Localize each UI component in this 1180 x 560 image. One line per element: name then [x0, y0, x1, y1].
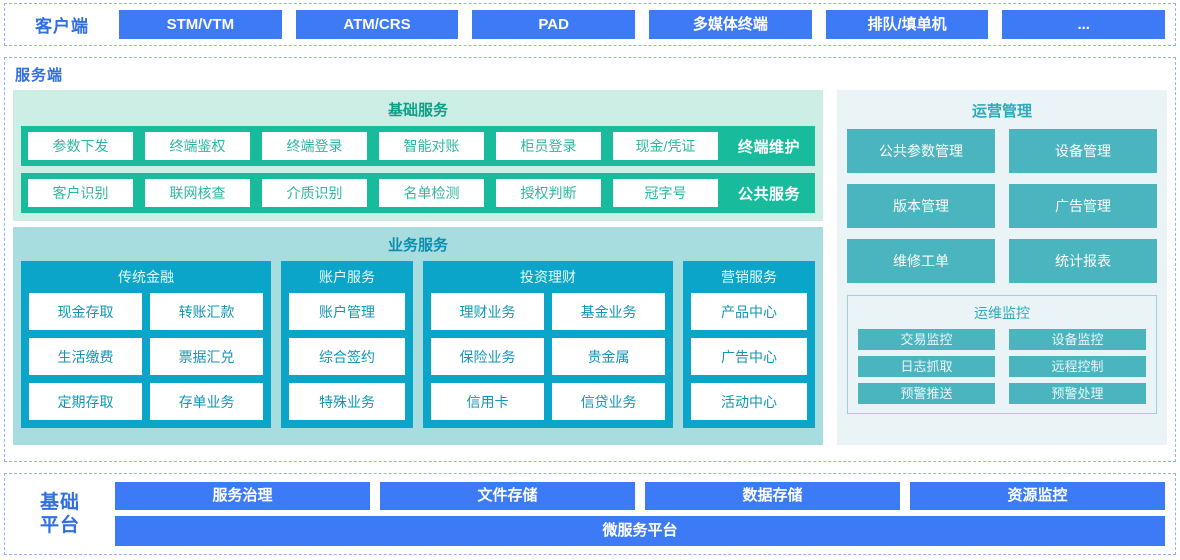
basic-services-row-terminal-maintenance: 参数下发 终端鉴权 终端登录 智能对账 柜员登录 现金/凭证 终端维护 [21, 126, 815, 166]
platform-stack: 服务治理 文件存储 数据存储 资源监控 微服务平台 [115, 482, 1175, 546]
ops-cell-advertising-management[interactable]: 广告管理 [1009, 184, 1157, 228]
basic-cell-media-recognition[interactable]: 介质识别 [262, 179, 367, 207]
business-group-marketing: 营销服务 产品中心 广告中心 活动中心 [683, 261, 815, 428]
ops-cell-repair-work-order[interactable]: 维修工单 [847, 239, 995, 283]
business-group-title-marketing: 营销服务 [691, 266, 807, 293]
ops-cell-device-management[interactable]: 设备管理 [1009, 129, 1157, 173]
business-group-grid-account-service: 账户管理 综合签约 特殊业务 [289, 293, 405, 420]
platform-capability-row: 服务治理 文件存储 数据存储 资源监控 [115, 482, 1165, 510]
mon-cell-log-capture[interactable]: 日志抓取 [858, 356, 995, 377]
biz-cell-special-business[interactable]: 特殊业务 [289, 383, 405, 420]
business-services-groups: 传统金融 现金存取 生活缴费 定期存取 转账汇款 票据汇兑 [21, 261, 815, 428]
basic-cell-teller-login[interactable]: 柜员登录 [496, 132, 601, 160]
mon-cell-device-monitoring[interactable]: 设备监控 [1009, 329, 1146, 350]
business-col-investment-2: 基金业务 贵金属 信贷业务 [552, 293, 665, 420]
biz-cell-advertising-center[interactable]: 广告中心 [691, 338, 807, 375]
biz-cell-transfer-remittance[interactable]: 转账汇款 [150, 293, 263, 330]
ops-cell-version-management[interactable]: 版本管理 [847, 184, 995, 228]
basic-row-tag-terminal-maintenance: 终端维护 [730, 136, 808, 157]
platform-title-line1: 基础 [5, 491, 115, 514]
business-group-title-traditional-finance: 传统金融 [29, 266, 263, 293]
basic-cell-param-dispatch[interactable]: 参数下发 [28, 132, 133, 160]
operations-management-grid: 公共参数管理 设备管理 版本管理 广告管理 维修工单 统计报表 [847, 129, 1157, 283]
biz-cell-living-payment[interactable]: 生活缴费 [29, 338, 142, 375]
basic-services-heading: 基础服务 [21, 96, 815, 126]
basic-cell-cash-voucher[interactable]: 现金/凭证 [613, 132, 718, 160]
basic-cell-smart-reconciliation[interactable]: 智能对账 [379, 132, 484, 160]
mon-cell-alert-handling[interactable]: 预警处理 [1009, 383, 1146, 404]
server-layer-section: 服务端 基础服务 参数下发 终端鉴权 终端登录 智能对账 柜员登录 现金/凭证 … [4, 57, 1176, 462]
biz-cell-wealth-management[interactable]: 理财业务 [431, 293, 544, 330]
basic-row-tag-public-service: 公共服务 [730, 183, 808, 204]
business-services-block: 业务服务 传统金融 现金存取 生活缴费 定期存取 [13, 227, 823, 445]
platform-microservice-bar[interactable]: 微服务平台 [115, 516, 1165, 546]
basic-cell-serial-number[interactable]: 冠字号 [613, 179, 718, 207]
operations-monitoring-box: 运维监控 交易监控 设备监控 日志抓取 远程控制 预警推送 预警处理 [847, 295, 1157, 414]
platform-layer-title: 基础 平台 [5, 491, 115, 537]
business-col-account-1: 账户管理 综合签约 特殊业务 [289, 293, 405, 420]
operations-management-heading: 运营管理 [847, 96, 1157, 129]
basic-cell-terminal-login[interactable]: 终端登录 [262, 132, 367, 160]
business-group-investment: 投资理财 理财业务 保险业务 信用卡 基金业务 贵金属 [423, 261, 673, 428]
biz-cell-insurance-business[interactable]: 保险业务 [431, 338, 544, 375]
server-layer-body: 基础服务 参数下发 终端鉴权 终端登录 智能对账 柜员登录 现金/凭证 终端维护… [13, 90, 1167, 445]
client-layer-title: 客户端 [5, 12, 119, 37]
server-layer-title: 服务端 [15, 64, 1167, 85]
client-terminal-queue-form[interactable]: 排队/填单机 [826, 10, 989, 39]
client-terminal-list: STM/VTM ATM/CRS PAD 多媒体终端 排队/填单机 ... [119, 10, 1175, 39]
biz-cell-credit-business[interactable]: 信贷业务 [552, 383, 665, 420]
basic-cell-customer-identification[interactable]: 客户识别 [28, 179, 133, 207]
operations-monitoring-heading: 运维监控 [858, 301, 1146, 329]
biz-cell-activity-center[interactable]: 活动中心 [691, 383, 807, 420]
ops-cell-public-parameter-management[interactable]: 公共参数管理 [847, 129, 995, 173]
basic-cell-online-verification[interactable]: 联网核查 [145, 179, 250, 207]
biz-cell-certificate-deposit[interactable]: 存单业务 [150, 383, 263, 420]
platform-chip-resource-monitoring[interactable]: 资源监控 [910, 482, 1165, 510]
biz-cell-bill-exchange[interactable]: 票据汇兑 [150, 338, 263, 375]
business-services-heading: 业务服务 [21, 231, 815, 261]
biz-cell-comprehensive-signing[interactable]: 综合签约 [289, 338, 405, 375]
platform-chip-service-governance[interactable]: 服务治理 [115, 482, 370, 510]
mon-cell-alert-push[interactable]: 预警推送 [858, 383, 995, 404]
operations-monitoring-grid: 交易监控 设备监控 日志抓取 远程控制 预警推送 预警处理 [858, 329, 1146, 404]
basic-cell-terminal-auth[interactable]: 终端鉴权 [145, 132, 250, 160]
basic-cell-list-check[interactable]: 名单检测 [379, 179, 484, 207]
platform-chip-file-storage[interactable]: 文件存储 [380, 482, 635, 510]
platform-chip-data-storage[interactable]: 数据存储 [645, 482, 900, 510]
mon-cell-transaction-monitoring[interactable]: 交易监控 [858, 329, 995, 350]
basic-cell-authorization-judgment[interactable]: 授权判断 [496, 179, 601, 207]
ops-cell-statistical-report[interactable]: 统计报表 [1009, 239, 1157, 283]
business-group-account-service: 账户服务 账户管理 综合签约 特殊业务 [281, 261, 413, 428]
platform-title-line2: 平台 [5, 514, 115, 537]
client-terminal-stm-vtm[interactable]: STM/VTM [119, 10, 282, 39]
business-group-grid-marketing: 产品中心 广告中心 活动中心 [691, 293, 807, 420]
biz-cell-cash-deposit-withdraw[interactable]: 现金存取 [29, 293, 142, 330]
client-layer-section: 客户端 STM/VTM ATM/CRS PAD 多媒体终端 排队/填单机 ... [4, 3, 1176, 46]
business-col-investment-1: 理财业务 保险业务 信用卡 [431, 293, 544, 420]
business-group-grid-investment: 理财业务 保险业务 信用卡 基金业务 贵金属 信贷业务 [431, 293, 665, 420]
biz-cell-precious-metals[interactable]: 贵金属 [552, 338, 665, 375]
business-col-marketing-1: 产品中心 广告中心 活动中心 [691, 293, 807, 420]
business-group-traditional-finance: 传统金融 现金存取 生活缴费 定期存取 转账汇款 票据汇兑 [21, 261, 271, 428]
business-group-grid-traditional-finance: 现金存取 生活缴费 定期存取 转账汇款 票据汇兑 存单业务 [29, 293, 263, 420]
architecture-diagram: 客户端 STM/VTM ATM/CRS PAD 多媒体终端 排队/填单机 ...… [0, 0, 1180, 560]
basic-services-row-public-service: 客户识别 联网核查 介质识别 名单检测 授权判断 冠字号 公共服务 [21, 173, 815, 213]
operations-management-panel: 运营管理 公共参数管理 设备管理 版本管理 广告管理 维修工单 统计报表 运维监… [837, 90, 1167, 445]
biz-cell-fund-business[interactable]: 基金业务 [552, 293, 665, 330]
business-group-title-account-service: 账户服务 [289, 266, 405, 293]
biz-cell-credit-card[interactable]: 信用卡 [431, 383, 544, 420]
client-terminal-multimedia[interactable]: 多媒体终端 [649, 10, 812, 39]
business-col-traditional-1: 现金存取 生活缴费 定期存取 [29, 293, 142, 420]
client-terminal-more[interactable]: ... [1002, 10, 1165, 39]
client-terminal-atm-crs[interactable]: ATM/CRS [296, 10, 459, 39]
biz-cell-account-management[interactable]: 账户管理 [289, 293, 405, 330]
biz-cell-product-center[interactable]: 产品中心 [691, 293, 807, 330]
basic-services-block: 基础服务 参数下发 终端鉴权 终端登录 智能对账 柜员登录 现金/凭证 终端维护… [13, 90, 823, 221]
biz-cell-fixed-deposit[interactable]: 定期存取 [29, 383, 142, 420]
client-terminal-pad[interactable]: PAD [472, 10, 635, 39]
services-column: 基础服务 参数下发 终端鉴权 终端登录 智能对账 柜员登录 现金/凭证 终端维护… [13, 90, 823, 445]
business-col-traditional-2: 转账汇款 票据汇兑 存单业务 [150, 293, 263, 420]
business-group-title-investment: 投资理财 [431, 266, 665, 293]
platform-layer-section: 基础 平台 服务治理 文件存储 数据存储 资源监控 微服务平台 [4, 473, 1176, 555]
mon-cell-remote-control[interactable]: 远程控制 [1009, 356, 1146, 377]
